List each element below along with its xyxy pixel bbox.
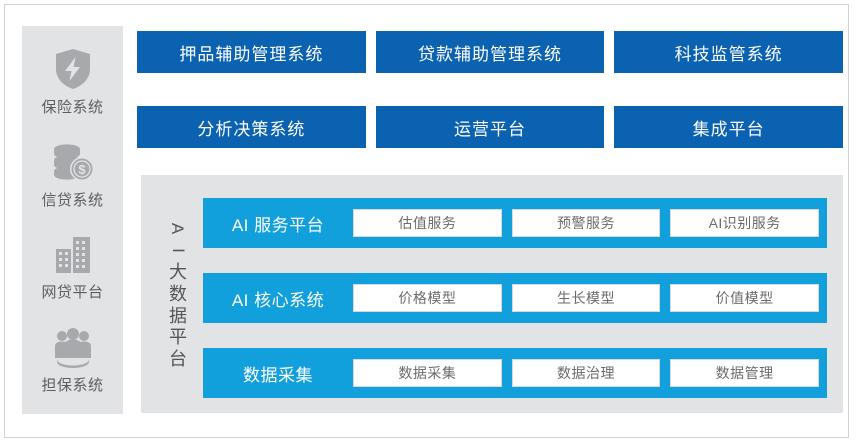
ai-bigdata-platform-panel: A I 大 数 据 平 台 AI 服务平台 估值服务 预警服务 AI识别服务 A… bbox=[141, 175, 843, 413]
system-bar-operations-platform[interactable]: 运营平台 bbox=[376, 106, 605, 148]
chip-data-management[interactable]: 数据管理 bbox=[670, 359, 819, 387]
platform-row-title: AI 服务平台 bbox=[203, 211, 353, 236]
people-group-icon bbox=[51, 325, 95, 369]
chip-alert-service[interactable]: 预警服务 bbox=[512, 209, 661, 237]
platform-row-data-collection: 数据采集 数据采集 数据治理 数据管理 bbox=[203, 348, 827, 398]
sidebar: 保险系统 bbox=[22, 26, 123, 414]
chip-group: 估值服务 预警服务 AI识别服务 bbox=[353, 209, 827, 237]
sidebar-item-label: 保险系统 bbox=[41, 96, 103, 117]
platform-row-ai-service: AI 服务平台 估值服务 预警服务 AI识别服务 bbox=[203, 198, 827, 248]
sidebar-item-credit[interactable]: $ 信贷系统 bbox=[22, 140, 123, 210]
platform-vertical-label: A I 大 数 据 平 台 bbox=[155, 189, 201, 399]
sidebar-item-label: 信贷系统 bbox=[41, 189, 103, 210]
vertical-label-char: A bbox=[170, 223, 187, 234]
sidebar-item-online-lending[interactable]: 网贷平台 bbox=[22, 232, 123, 302]
vertical-label-char: I bbox=[169, 248, 186, 253]
platform-row-title: 数据采集 bbox=[203, 361, 353, 386]
diagram-frame: 保险系统 bbox=[4, 4, 849, 438]
chip-group: 价格模型 生长模型 价值模型 bbox=[353, 284, 827, 312]
sidebar-item-guarantee[interactable]: 担保系统 bbox=[22, 325, 123, 395]
chip-data-governance[interactable]: 数据治理 bbox=[512, 359, 661, 387]
system-bar-collateral-management[interactable]: 押品辅助管理系统 bbox=[137, 31, 366, 73]
chip-valuation-service[interactable]: 估值服务 bbox=[353, 209, 502, 237]
top-systems-row-1: 押品辅助管理系统 贷款辅助管理系统 科技监管系统 bbox=[137, 31, 843, 73]
sidebar-item-label: 担保系统 bbox=[41, 374, 103, 395]
system-bar-integration-platform[interactable]: 集成平台 bbox=[614, 106, 843, 148]
sidebar-item-insurance[interactable]: 保险系统 bbox=[22, 47, 123, 117]
vertical-label-char: 大 bbox=[169, 263, 187, 282]
vertical-label-char: 据 bbox=[169, 307, 187, 326]
system-bar-loan-management[interactable]: 贷款辅助管理系统 bbox=[376, 31, 605, 73]
system-bar-analysis-decision[interactable]: 分析决策系统 bbox=[137, 106, 366, 148]
platform-row-title: AI 核心系统 bbox=[203, 286, 353, 311]
coins-dollar-icon: $ bbox=[51, 140, 95, 184]
chip-value-model[interactable]: 价值模型 bbox=[670, 284, 819, 312]
chip-group: 数据采集 数据治理 数据管理 bbox=[353, 359, 827, 387]
chip-ai-recognition-service[interactable]: AI识别服务 bbox=[670, 209, 819, 237]
platform-row-ai-core: AI 核心系统 价格模型 生长模型 价值模型 bbox=[203, 273, 827, 323]
vertical-label-char: 台 bbox=[169, 350, 187, 369]
sidebar-item-label: 网贷平台 bbox=[41, 281, 103, 302]
shield-bolt-icon bbox=[51, 47, 95, 91]
svg-text:$: $ bbox=[78, 162, 86, 177]
buildings-icon bbox=[51, 232, 95, 276]
chip-data-collection[interactable]: 数据采集 bbox=[353, 359, 502, 387]
top-systems-row-2: 分析决策系统 运营平台 集成平台 bbox=[137, 106, 843, 148]
chip-price-model[interactable]: 价格模型 bbox=[353, 284, 502, 312]
system-bar-tech-supervision[interactable]: 科技监管系统 bbox=[614, 31, 843, 73]
chip-growth-model[interactable]: 生长模型 bbox=[512, 284, 661, 312]
vertical-label-char: 数 bbox=[169, 285, 187, 304]
vertical-label-char: 平 bbox=[169, 328, 187, 347]
